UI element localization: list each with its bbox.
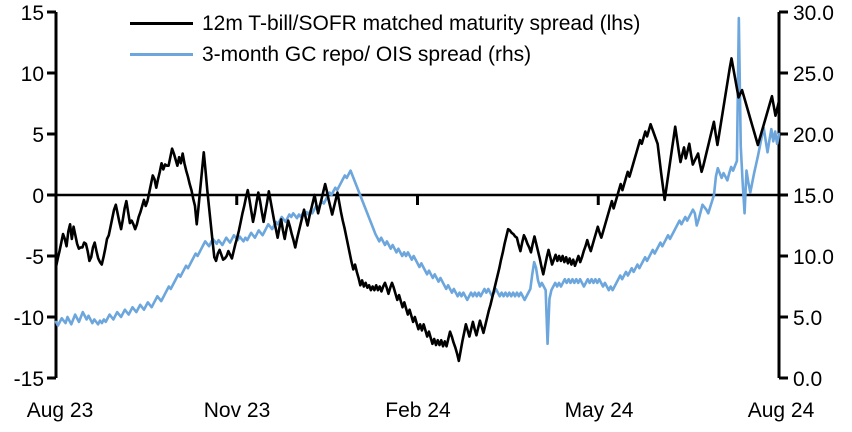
- series-line-gc-repo-ois: [56, 18, 779, 344]
- plot-area: [0, 0, 852, 432]
- chart-root: 15 10 5 0 -5 -10 -15 30.0 25.0 20.0 15.0…: [0, 0, 852, 432]
- series-line-tbill-sofr: [56, 58, 779, 361]
